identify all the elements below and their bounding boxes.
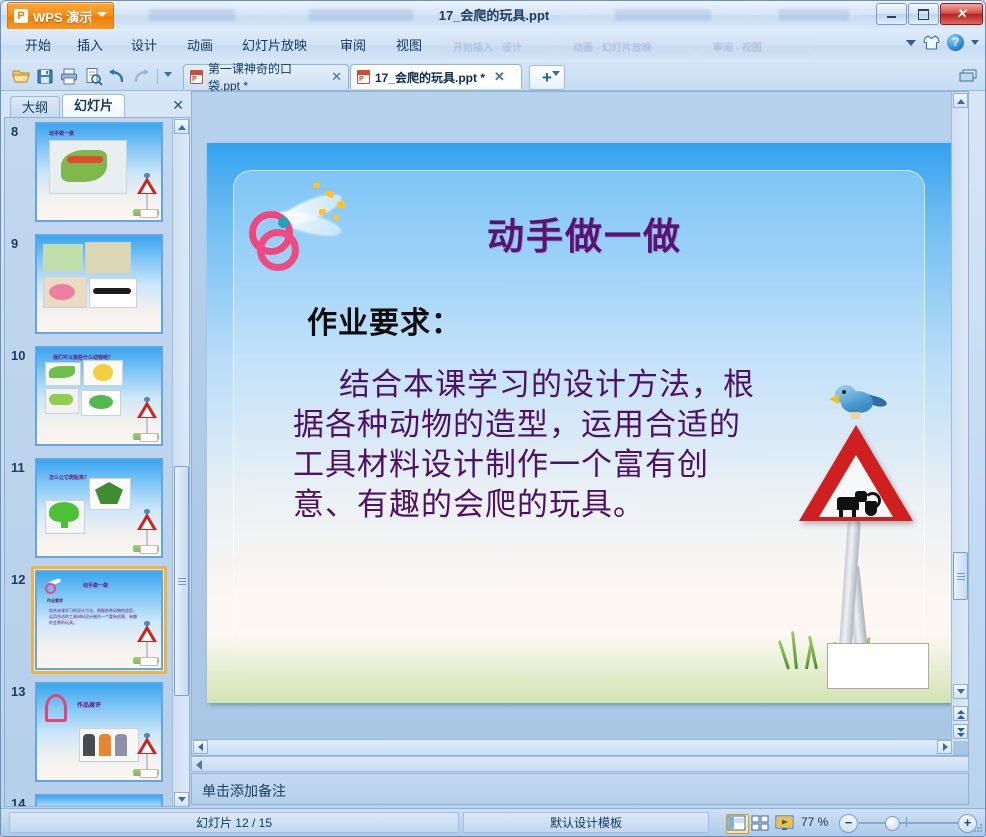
minimize-icon: [887, 16, 896, 18]
zoom-slider-tick: [906, 817, 907, 827]
slide-scroll-up-button[interactable]: [953, 93, 968, 108]
slide-scroll-thumb[interactable]: [953, 552, 968, 600]
panel-tabs: 大纲 幻灯片 ✕: [4, 91, 190, 117]
slide-body-text[interactable]: 结合本课学习的设计方法，根据各种动物的造型，运用合适的工具材料设计制作一个富有创…: [293, 365, 763, 525]
arrow-left-icon[interactable]: [196, 760, 202, 770]
wps-app-menu-button[interactable]: P WPS 演示: [7, 2, 114, 30]
toolbar-divider: [157, 69, 158, 84]
wps-logo-icon: P: [14, 9, 28, 23]
slide-counter: 幻灯片 12 / 15: [9, 812, 459, 833]
normal-view-button[interactable]: [726, 814, 749, 834]
print-preview-icon[interactable]: [83, 66, 103, 86]
doc-tab-0[interactable]: P 第一课神奇的口袋.ppt * ✕: [183, 64, 349, 89]
slideshow-view-button[interactable]: [774, 814, 797, 834]
new-tab-button[interactable]: +: [529, 65, 565, 90]
help-dropdown-icon[interactable]: [971, 40, 979, 45]
thumbnail-scrollbar[interactable]: [172, 118, 189, 807]
doc-tab-close-icon[interactable]: ✕: [494, 69, 505, 85]
window-arrange-icon[interactable]: [959, 69, 978, 83]
slide-horizontal-scrollbar[interactable]: [192, 739, 953, 755]
thumbnail-scroll-down-button[interactable]: [174, 792, 189, 807]
menu-tab-review[interactable]: 审阅: [332, 36, 374, 56]
thumbnail-title: 动手做一做: [49, 130, 74, 137]
save-icon[interactable]: [35, 66, 55, 86]
chevron-down-icon: [97, 12, 107, 17]
minus-icon: −: [840, 815, 857, 832]
logo-divider: [90, 6, 91, 26]
ppt-file-icon: P: [357, 70, 370, 84]
thumbnail-number: 14: [11, 796, 25, 807]
doc-tab-1[interactable]: P 17_会爬的玩具.ppt * ✕: [350, 64, 522, 89]
white-card-shape: [827, 643, 929, 689]
redo-icon[interactable]: [131, 66, 151, 86]
slide-thumbnail-list[interactable]: 8 动手做一做 9: [4, 117, 190, 807]
scroll-left-button[interactable]: [193, 740, 208, 754]
thumbnail-slide-8[interactable]: 8 动手做一做: [5, 122, 173, 234]
help-button[interactable]: ?: [947, 34, 964, 51]
tab-slides[interactable]: 幻灯片: [62, 94, 125, 117]
thumbnail-preview: [35, 794, 163, 807]
thumbnail-title: 怎么让它爬起来？: [49, 474, 89, 481]
panel-close-icon[interactable]: ✕: [172, 97, 184, 114]
status-bar: 幻灯片 12 / 15 默认设计模板: [1, 808, 986, 836]
arrow-up-icon: [957, 99, 965, 104]
quick-access-toolbar: P 第一课神奇的口袋.ppt * ✕ P 17_会爬的玩具.ppt * ✕ +: [1, 62, 986, 91]
maximize-button[interactable]: [908, 3, 939, 25]
print-icon[interactable]: [59, 66, 79, 86]
design-template-name: 默认设计模板: [463, 812, 709, 833]
zoom-level-label: 77 %: [801, 815, 828, 829]
next-slide-button[interactable]: [953, 724, 968, 739]
menu-tab-animation[interactable]: 动画: [179, 36, 221, 56]
thumbnail-scroll-up-button[interactable]: [174, 119, 189, 134]
menu-tab-start[interactable]: 开始: [17, 36, 59, 56]
doc-tab-label: 第一课神奇的口袋.ppt *: [208, 60, 322, 94]
thumbnail-slide-13[interactable]: 13 作品展评: [5, 682, 173, 794]
scroll-grip-icon: [178, 578, 186, 584]
scroll-right-button[interactable]: [937, 740, 952, 754]
customize-toolbar-icon[interactable]: [164, 72, 172, 77]
ribbon-right-controls: ?: [906, 34, 979, 51]
arrow-left-icon: [198, 743, 203, 751]
menu-tab-design[interactable]: 设计: [123, 36, 165, 56]
thumbnail-scroll-thumb[interactable]: [174, 466, 189, 696]
thumbnail-title: 作品展评: [77, 700, 101, 709]
arrow-up-icon: [178, 125, 186, 130]
wps-app-label: WPS 演示: [33, 7, 92, 26]
thumbnail-preview: 怎么让它爬起来？: [35, 458, 163, 558]
resize-grip-icon[interactable]: [972, 822, 984, 834]
doc-tab-label: 17_会爬的玩具.ppt *: [375, 69, 485, 86]
slide-canvas[interactable]: 动手做一做 作业要求： 结合本课学习的设计方法，根据各种动物的造型，运用合适的工…: [207, 143, 951, 703]
maximize-icon: [918, 9, 929, 20]
dragonfly-scissors-icon: [245, 175, 363, 263]
notes-placeholder: 单击添加备注: [202, 781, 286, 801]
slide-sorter-view-button[interactable]: [750, 814, 773, 834]
thumbnail-slide-11[interactable]: 11 怎么让它爬起来？: [5, 458, 173, 570]
chevron-down-icon[interactable]: [906, 40, 916, 46]
menu-tab-view[interactable]: 视图: [388, 36, 430, 56]
open-icon[interactable]: [11, 66, 31, 86]
ppt-file-icon: P: [190, 70, 203, 84]
zoom-slider-track[interactable]: [859, 822, 963, 824]
skin-shirt-icon[interactable]: [923, 35, 940, 50]
menu-tab-insert[interactable]: 插入: [69, 36, 111, 56]
thumbnail-slide-12[interactable]: 12 动手做一做 作业要求 结合本课学习的设计方法，根据各种动物的造型，运用合适…: [5, 570, 173, 682]
blue-bird-icon: [833, 385, 887, 429]
slides-panel: 大纲 幻灯片 ✕ 8 动手做一做 9: [4, 91, 190, 807]
arrow-down-icon: [957, 689, 965, 694]
slide-scroll-down-button[interactable]: [953, 684, 968, 699]
background-window-tabs: [121, 3, 551, 27]
notes-pane[interactable]: 单击添加备注: [191, 773, 969, 805]
title-bar: P WPS 演示 17_会爬的玩具.ppt: [1, 1, 986, 29]
notes-splitter[interactable]: [191, 756, 969, 772]
wps-presentation-window: P WPS 演示 17_会爬的玩具.ppt: [0, 0, 986, 837]
thumbnail-slide-14[interactable]: 14: [5, 794, 173, 807]
slide-edit-area: 动手做一做 作业要求： 结合本课学习的设计方法，根据各种动物的造型，运用合适的工…: [191, 91, 969, 756]
thumbnail-preview: 动手做一做 作业要求 结合本课学习的设计方法，根据各种动物的造型，运用合适的工具…: [35, 570, 163, 670]
thumbnail-preview: 我们可以做些什么动物呢？: [35, 346, 163, 446]
zoom-out-button[interactable]: −: [839, 814, 858, 833]
thumbnail-preview: 动手做一做: [35, 122, 163, 222]
close-icon: ✕: [941, 4, 982, 24]
close-button[interactable]: ✕: [940, 3, 983, 25]
thumbnail-number: 13: [11, 684, 25, 699]
ribbon-menu-bar: 开始 插入 设计 动画 幻灯片放映 审阅 视图 开始插入 · 设计 动画 · 幻…: [1, 29, 986, 63]
warning-sign-with-dog-icon: [781, 373, 933, 693]
thumbnail-title: 动手做一做: [83, 582, 108, 589]
thumbnail-number: 12: [11, 572, 25, 587]
slide-vertical-scrollbar[interactable]: [951, 92, 968, 741]
arrow-right-icon: [943, 743, 948, 751]
thumbnail-number: 8: [11, 124, 18, 139]
zoom-slider-knob[interactable]: [885, 816, 900, 831]
thumbnail-number: 9: [11, 236, 18, 251]
slide-subheading[interactable]: 作业要求：: [307, 298, 462, 342]
new-tab-dropdown-icon[interactable]: [552, 71, 560, 76]
plus-icon: +: [542, 70, 552, 85]
thumbnail-number: 11: [11, 460, 25, 475]
dog-icon: [837, 491, 879, 517]
double-arrow-up-icon: [957, 710, 965, 718]
thumbnail-slide-10[interactable]: 10 我们可以做些什么动物呢？: [5, 346, 173, 458]
double-arrow-down-icon: [957, 728, 965, 736]
slide-title[interactable]: 动手做一做: [487, 206, 682, 260]
undo-icon[interactable]: [107, 66, 127, 86]
minimize-button[interactable]: [876, 3, 907, 25]
arrow-down-icon: [178, 797, 186, 802]
scroll-grip-icon: [957, 573, 965, 579]
menu-tab-slideshow[interactable]: 幻灯片放映: [234, 36, 315, 56]
tab-outline[interactable]: 大纲: [10, 96, 60, 117]
previous-slide-button[interactable]: [953, 706, 968, 721]
background-window-tabs-right: [561, 3, 861, 27]
thumbnail-preview: [35, 234, 163, 334]
thumbnail-number: 10: [11, 348, 25, 363]
thumbnail-slide-9[interactable]: 9: [5, 234, 173, 346]
window-controls: ✕: [876, 3, 983, 25]
thumbnail-preview: 作品展评: [35, 682, 163, 782]
doc-tab-close-icon[interactable]: ✕: [331, 69, 342, 85]
